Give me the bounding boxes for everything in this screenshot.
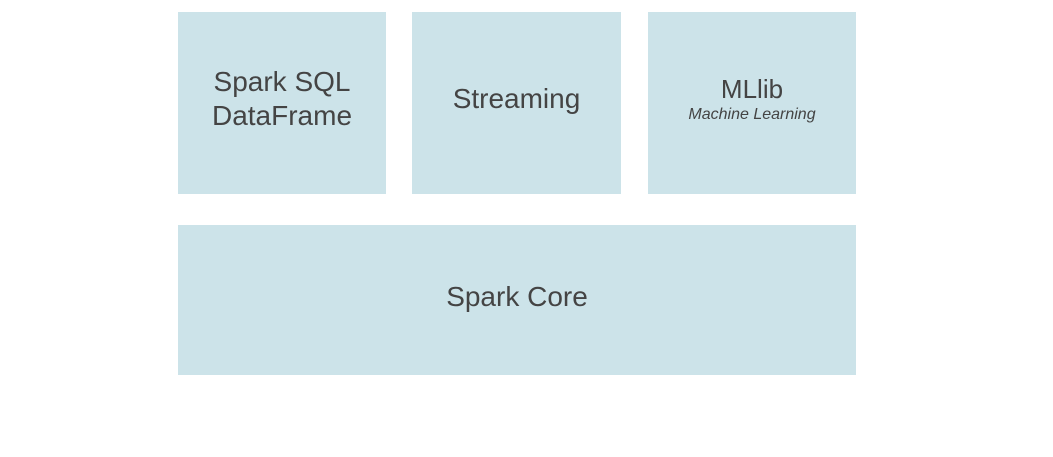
block-streaming[interactable]: Streaming — [412, 12, 621, 194]
block-streaming-title: Streaming — [453, 82, 581, 116]
spark-stack-diagram: Spark SQL DataFrame Streaming MLlib Mach… — [0, 0, 1053, 457]
block-spark-core[interactable]: Spark Core — [178, 225, 856, 375]
block-streaming-title-line-1: Streaming — [453, 82, 581, 116]
block-spark-sql-title-line-2: DataFrame — [212, 99, 352, 133]
block-streaming-content: Streaming — [453, 82, 581, 116]
block-spark-sql-title: Spark SQL DataFrame — [212, 65, 352, 133]
block-spark-sql-content: Spark SQL DataFrame — [212, 65, 352, 133]
block-mllib-subtitle: Machine Learning — [688, 105, 815, 125]
block-spark-sql[interactable]: Spark SQL DataFrame — [178, 12, 386, 194]
block-mllib-title-line-1: MLlib — [688, 74, 815, 104]
block-spark-core-title-line-1: Spark Core — [446, 280, 588, 314]
block-mllib[interactable]: MLlib Machine Learning — [648, 12, 856, 194]
block-spark-core-title: Spark Core — [446, 280, 588, 314]
block-spark-core-content: Spark Core — [446, 280, 588, 314]
block-mllib-title: MLlib — [688, 74, 815, 104]
block-mllib-content: MLlib Machine Learning — [688, 74, 815, 125]
block-spark-sql-title-line-1: Spark SQL — [212, 65, 352, 99]
